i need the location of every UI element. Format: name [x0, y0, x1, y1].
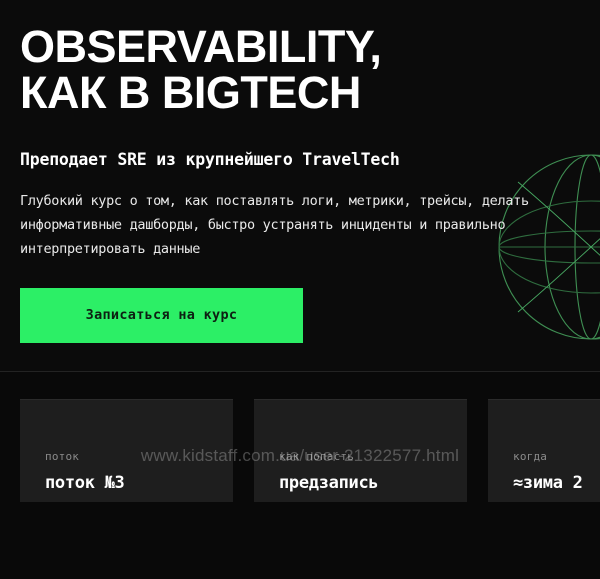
- info-cards-section: поток поток №3 как попасть предзапись ко…: [0, 372, 600, 579]
- info-card-value: ≈зима 2: [513, 473, 583, 493]
- info-card-how-to-join[interactable]: как попасть предзапись: [254, 399, 467, 502]
- info-card-label: когда: [513, 450, 547, 463]
- page-root: OBSERVABILITY, КАК В BIGTECH Преподает S…: [0, 0, 600, 579]
- info-card-label: поток: [45, 450, 79, 463]
- info-card-label: как попасть: [279, 450, 354, 463]
- enroll-button[interactable]: Записаться на курс: [20, 288, 303, 343]
- page-title: OBSERVABILITY, КАК В BIGTECH: [20, 24, 580, 116]
- hero-description: Глубокий курс о том, как поставлять логи…: [20, 189, 565, 261]
- hero-subtitle: Преподает SRE из крупнейшего TravelTech: [20, 150, 580, 170]
- info-card-stream[interactable]: поток поток №3: [20, 399, 233, 502]
- info-card-value: поток №3: [45, 473, 124, 493]
- hero-section: OBSERVABILITY, КАК В BIGTECH Преподает S…: [0, 0, 600, 372]
- info-card-value: предзапись: [279, 473, 378, 493]
- info-card-when[interactable]: когда ≈зима 2: [488, 399, 600, 502]
